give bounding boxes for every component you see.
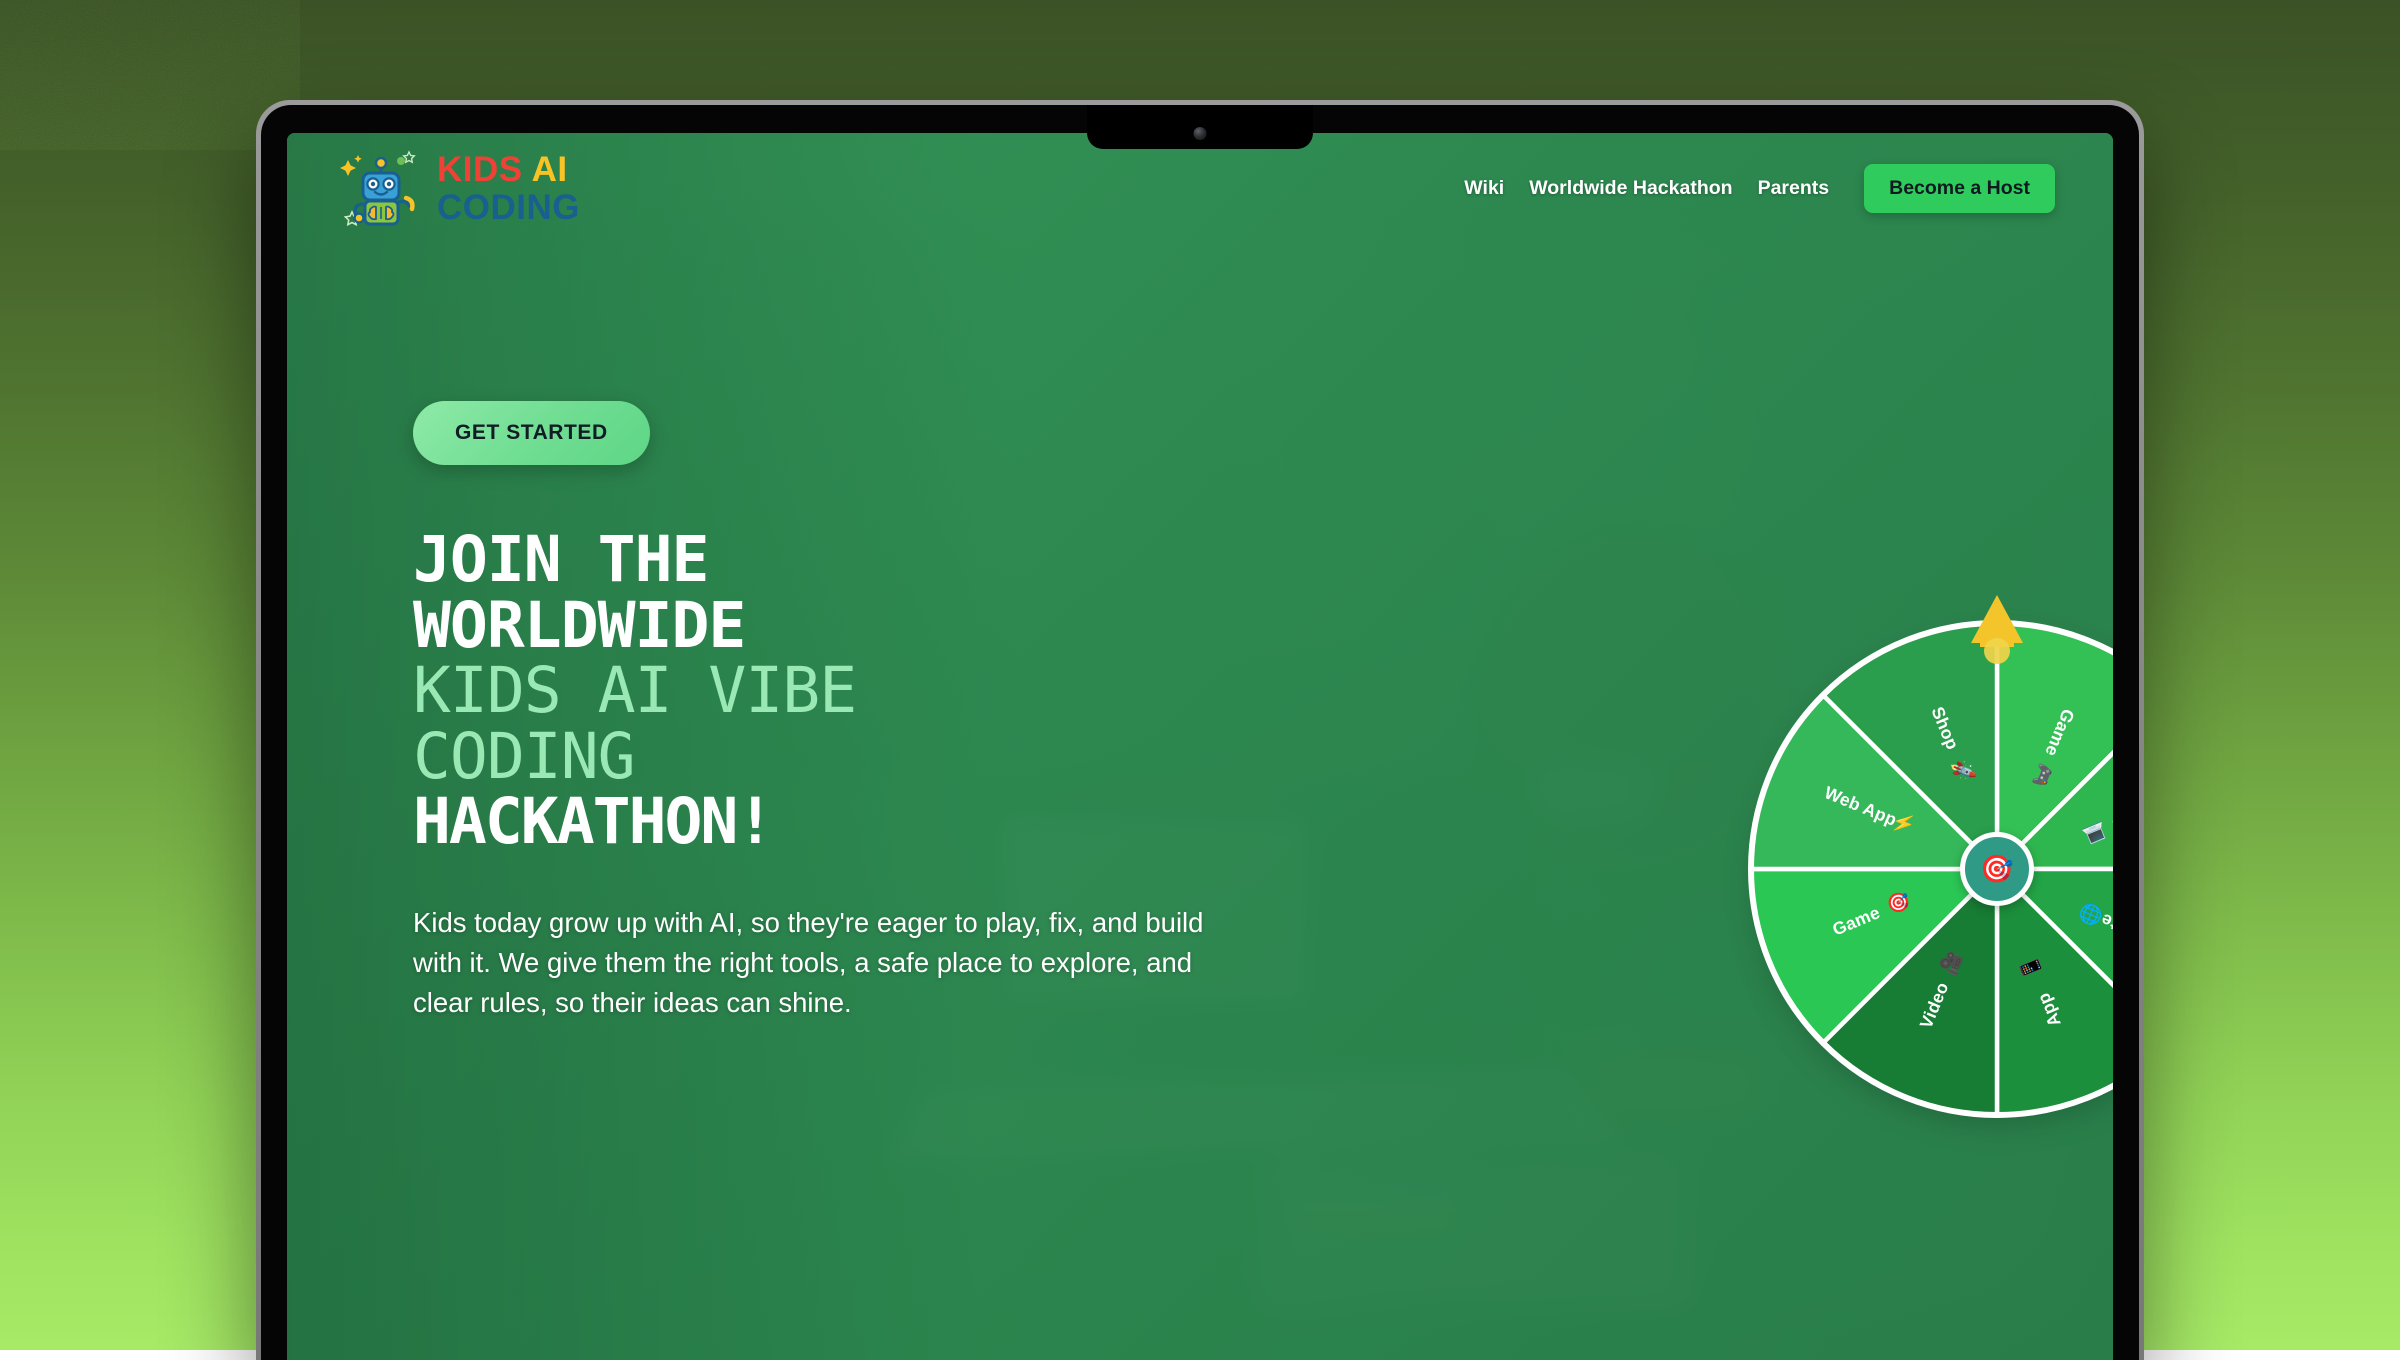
camera-icon	[1194, 127, 1207, 140]
browser-viewport: KIDS AI CODING Wiki Worldwide Hackathon …	[287, 133, 2113, 1360]
robot-mascot-icon	[339, 146, 423, 230]
headline-line-3: KIDS AI VIBE	[413, 658, 1313, 724]
logo-word-coding: CODING	[437, 190, 580, 225]
wheel-hub[interactable]: 🎯	[1960, 832, 2034, 906]
hero-paragraph: Kids today grow up with AI, so they're e…	[413, 903, 1213, 1023]
laptop-device: KIDS AI CODING Wiki Worldwide Hackathon …	[256, 100, 2144, 1360]
headline-line-1: JOIN THE	[413, 527, 1313, 593]
wheel-graphic: Game🎮Social💻Website🌐App📱Video🎥Game🎯Web A…	[1747, 619, 2113, 1119]
logo-wordmark: KIDS AI CODING	[437, 152, 580, 225]
nav-link-worldwide-hackathon[interactable]: Worldwide Hackathon	[1529, 177, 1732, 200]
hero-content: GET STARTED JOIN THE WORLDWIDE KIDS AI V…	[413, 401, 1313, 1023]
hero-headline: JOIN THE WORLDWIDE KIDS AI VIBE CODING H…	[413, 527, 1313, 855]
site-header: KIDS AI CODING Wiki Worldwide Hackathon …	[287, 133, 2113, 243]
triangle-pointer-icon	[1966, 591, 2028, 670]
logo-word-ai: AI	[532, 150, 568, 189]
logo-word-kids: KIDS	[437, 150, 523, 189]
main-navigation: Wiki Worldwide Hackathon Parents Become …	[1464, 164, 2055, 213]
nav-link-wiki[interactable]: Wiki	[1464, 177, 1504, 200]
headline-line-5: HACKATHON!	[413, 789, 1313, 855]
nav-link-parents[interactable]: Parents	[1758, 177, 1830, 200]
laptop-bezel: KIDS AI CODING Wiki Worldwide Hackathon …	[261, 105, 2139, 1360]
spin-wheel[interactable]: Game🎮Social💻Website🌐App📱Video🎥Game🎯Web A…	[1747, 619, 2113, 1119]
site-logo[interactable]: KIDS AI CODING	[339, 146, 580, 230]
become-a-host-button[interactable]: Become a Host	[1864, 164, 2055, 213]
get-started-button[interactable]: GET STARTED	[413, 401, 650, 465]
headline-line-2: WORLDWIDE	[413, 593, 1313, 659]
backdrop-noise-texture	[0, 0, 300, 150]
headline-line-4: CODING	[413, 724, 1313, 790]
